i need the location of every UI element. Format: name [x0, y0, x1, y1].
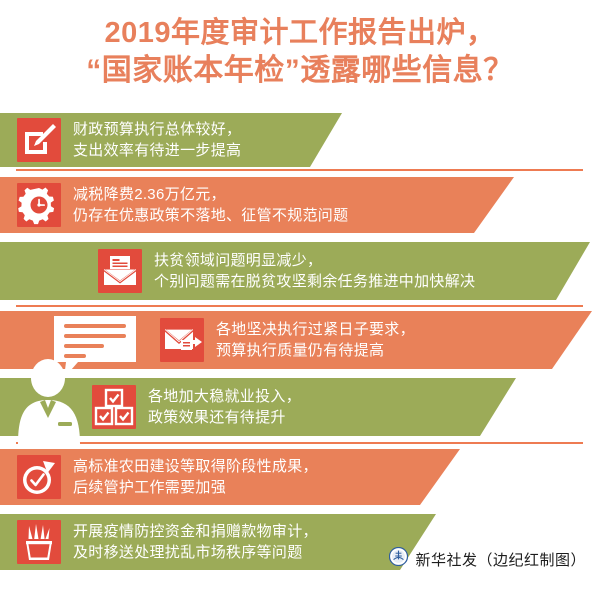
infographic-row: 扶贫领域问题明显减少，个别问题需在脱贫攻坚剩余任务推进中加快解决: [0, 242, 590, 300]
infographic-row: 各地坚决执行过紧日子要求，预算执行质量仍有待提高: [0, 311, 592, 369]
row-separator: [16, 169, 583, 171]
row-text: 扶贫领域问题明显减少，个别问题需在脱贫攻坚剩余任务推进中加快解决: [154, 250, 475, 292]
envelope-letter-icon: [98, 249, 142, 293]
row-text: 各地加大稳就业投入，政策效果还有待提升: [148, 386, 301, 428]
row-text-line-2: 仍存在优惠政策不落地、征管不规范问题: [73, 205, 348, 226]
envelope-inbox-arrow-icon: [160, 318, 204, 362]
infographic-row: 减税降费2.36万亿元，仍存在优惠政策不落地、征管不规范问题: [0, 177, 514, 233]
xinhua-logo-icon: [389, 547, 408, 571]
infographic-row: 财政预算执行总体较好，支出效率有待进一步提高: [0, 113, 342, 167]
row-text: 财政预算执行总体较好，支出效率有待进一步提高: [73, 119, 241, 161]
infographic-row: 高标准农田建设等取得阶段性成果，后续管护工作需要加强: [0, 449, 460, 505]
checkboxes-icon: [92, 385, 136, 429]
credit-text: 新华社发（边纪红制图）: [415, 549, 586, 570]
pencil-edit-icon: [17, 118, 61, 162]
pen-holder-icon: [17, 520, 61, 564]
row-text: 各地坚决执行过紧日子要求，预算执行质量仍有待提高: [216, 319, 415, 361]
row-text: 高标准农田建设等取得阶段性成果，后续管护工作需要加强: [73, 456, 318, 498]
row-separator: [16, 305, 583, 307]
row-text-line-2: 预算执行质量仍有待提高: [216, 340, 415, 361]
gear-clock-icon: [17, 183, 61, 227]
row-text-line-2: 后续管护工作需要加强: [73, 477, 318, 498]
infographic-row: 开展疫情防控资金和捐赠款物审计，及时移送处理扰乱市场秩序等问题: [0, 514, 436, 570]
infographic-rows: 财政预算执行总体较好，支出效率有待进一步提高 减税降费2.36万亿元，仍存在优惠…: [0, 113, 600, 591]
infographic-row: 各地加大稳就业投入，政策效果还有待提升: [0, 378, 516, 436]
page-title-line-2: “国家账本年检”透露哪些信息？: [0, 52, 600, 90]
row-text-line-2: 政策效果还有待提升: [148, 407, 301, 428]
row-text-line-1: 高标准农田建设等取得阶段性成果，: [73, 456, 318, 477]
row-text-line-1: 各地坚决执行过紧日子要求，: [216, 319, 415, 340]
row-text-line-1: 各地加大稳就业投入，: [148, 386, 301, 407]
page-title-line-1: 2019年度审计工作报告出炉，: [0, 14, 600, 52]
row-text-line-1: 扶贫领域问题明显减少，: [154, 250, 475, 271]
row-text-line-1: 财政预算执行总体较好，: [73, 119, 241, 140]
row-text-line-1: 开展疫情防控资金和捐赠款物审计，: [73, 521, 318, 542]
row-text-line-1: 减税降费2.36万亿元，: [73, 184, 348, 205]
row-text: 开展疫情防控资金和捐赠款物审计，及时移送处理扰乱市场秩序等问题: [73, 521, 318, 563]
row-text-line-2: 及时移送处理扰乱市场秩序等问题: [73, 542, 318, 563]
row-separator: [16, 442, 583, 444]
row-text: 减税降费2.36万亿元，仍存在优惠政策不落地、征管不规范问题: [73, 184, 348, 226]
credit: 新华社发（边纪红制图）: [389, 547, 586, 571]
row-text-line-2: 支出效率有待进一步提高: [73, 140, 241, 161]
page-title: 2019年度审计工作报告出炉， “国家账本年检”透露哪些信息？: [0, 14, 600, 90]
row-text-line-2: 个别问题需在脱贫攻坚剩余任务推进中加快解决: [154, 271, 475, 292]
magnifier-check-icon: [17, 455, 61, 499]
